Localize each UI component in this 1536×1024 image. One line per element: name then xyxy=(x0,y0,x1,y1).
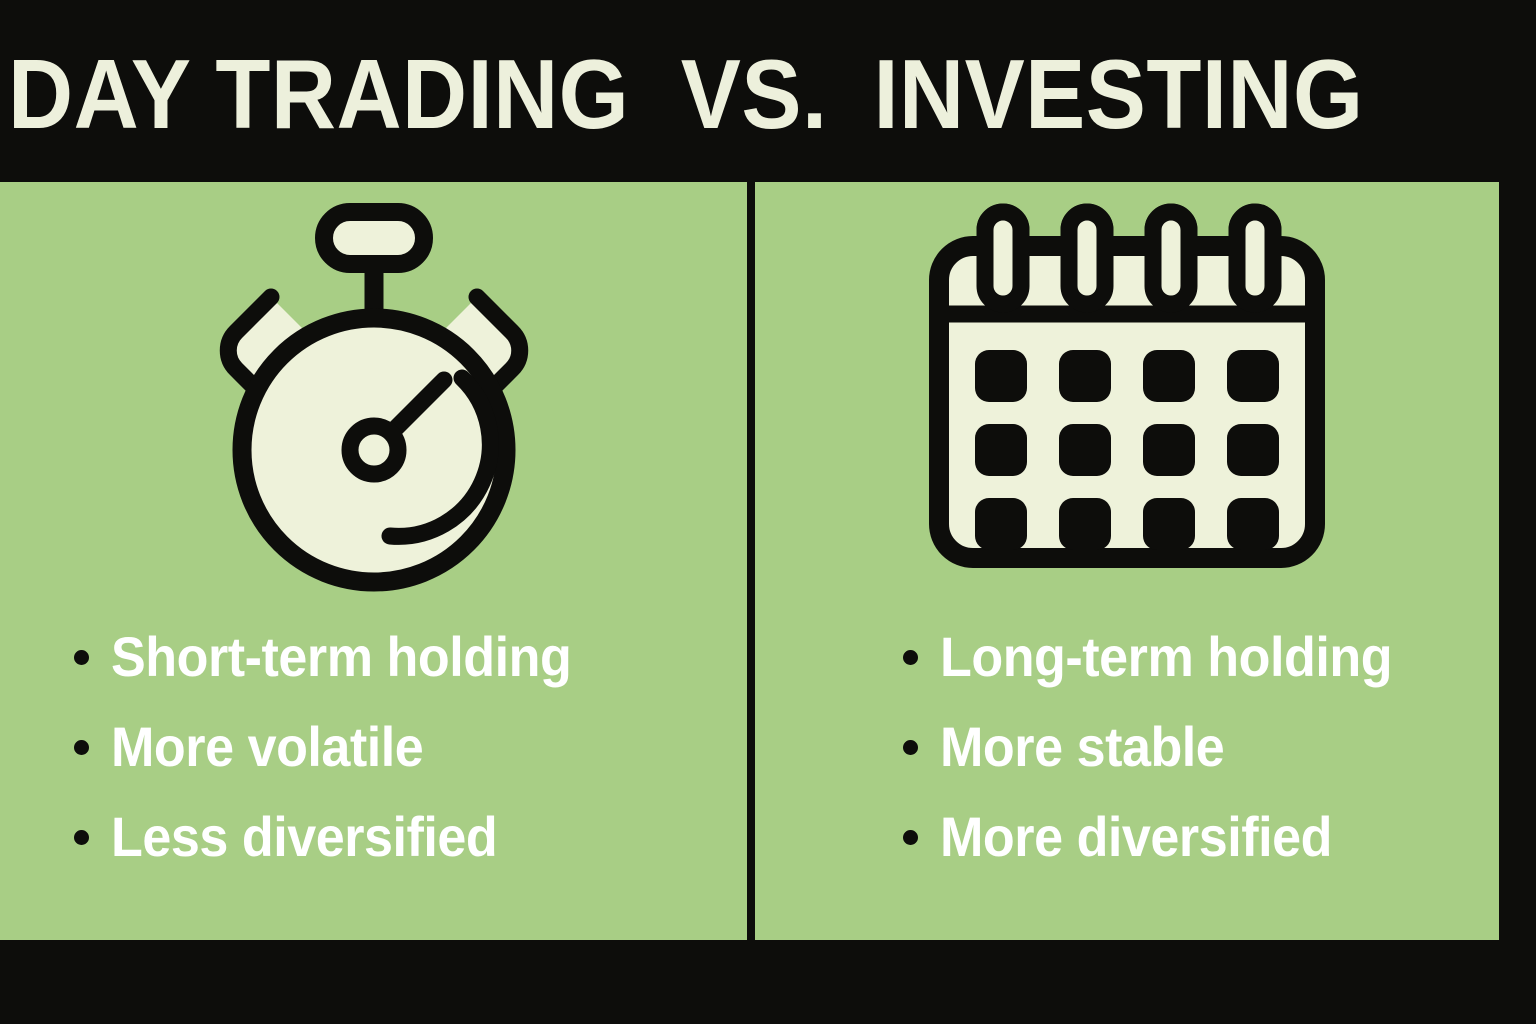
page-title: DAY TRADINGVS.INVESTING xyxy=(8,44,1370,144)
title-part-day-trading: DAY TRADING xyxy=(8,39,629,149)
calendar-day-cell xyxy=(1059,424,1111,476)
infographic-root: DAY TRADINGVS.INVESTING xyxy=(0,0,1536,1024)
bullet-dot-icon xyxy=(74,830,89,845)
list-item: Short-term holding xyxy=(74,612,821,702)
bullet-dot-icon xyxy=(903,830,918,845)
stopwatch-icon-container xyxy=(0,202,747,602)
list-item: More diversified xyxy=(903,792,1536,882)
calendar-day-cell xyxy=(1059,350,1111,402)
title-part-investing: INVESTING xyxy=(873,39,1363,149)
bullet-dot-icon xyxy=(903,740,918,755)
bullet-dot-icon xyxy=(903,650,918,665)
bullet-list-day-trading: Short-term holding More volatile Less di… xyxy=(0,612,821,882)
calendar-icon xyxy=(917,202,1337,602)
calendar-day-cell xyxy=(1143,498,1195,550)
calendar-day-cell xyxy=(975,424,1027,476)
bullet-dot-icon xyxy=(74,740,89,755)
calendar-day-cell xyxy=(1143,350,1195,402)
calendar-day-cell xyxy=(1059,498,1111,550)
panel-divider xyxy=(747,182,755,940)
panel-investing: Long-term holding More stable More diver… xyxy=(755,182,1499,940)
list-item: More stable xyxy=(903,702,1536,792)
calendar-day-cell xyxy=(975,350,1027,402)
title-separator-vs: VS. xyxy=(681,39,828,149)
bullet-label: More diversified xyxy=(940,807,1332,867)
bullet-label: Less diversified xyxy=(111,807,497,867)
calendar-day-cell xyxy=(975,498,1027,550)
bullet-label: Short-term holding xyxy=(111,627,571,687)
bullet-dot-icon xyxy=(74,650,89,665)
bullet-list-investing: Long-term holding More stable More diver… xyxy=(755,612,1536,882)
calendar-day-cell xyxy=(1227,424,1279,476)
bullet-label: More stable xyxy=(940,717,1224,777)
panel-day-trading: Short-term holding More volatile Less di… xyxy=(0,182,747,940)
list-item: More volatile xyxy=(74,702,821,792)
list-item: Less diversified xyxy=(74,792,821,882)
title-bar: DAY TRADINGVS.INVESTING xyxy=(0,0,1536,182)
bullet-label: More volatile xyxy=(111,717,423,777)
stopwatch-icon xyxy=(194,202,554,602)
list-item: Long-term holding xyxy=(903,612,1536,702)
calendar-icon-container xyxy=(755,202,1499,602)
calendar-day-cell xyxy=(1143,424,1195,476)
calendar-day-cell xyxy=(1227,350,1279,402)
calendar-day-cell xyxy=(1227,498,1279,550)
bullet-label: Long-term holding xyxy=(940,627,1392,687)
